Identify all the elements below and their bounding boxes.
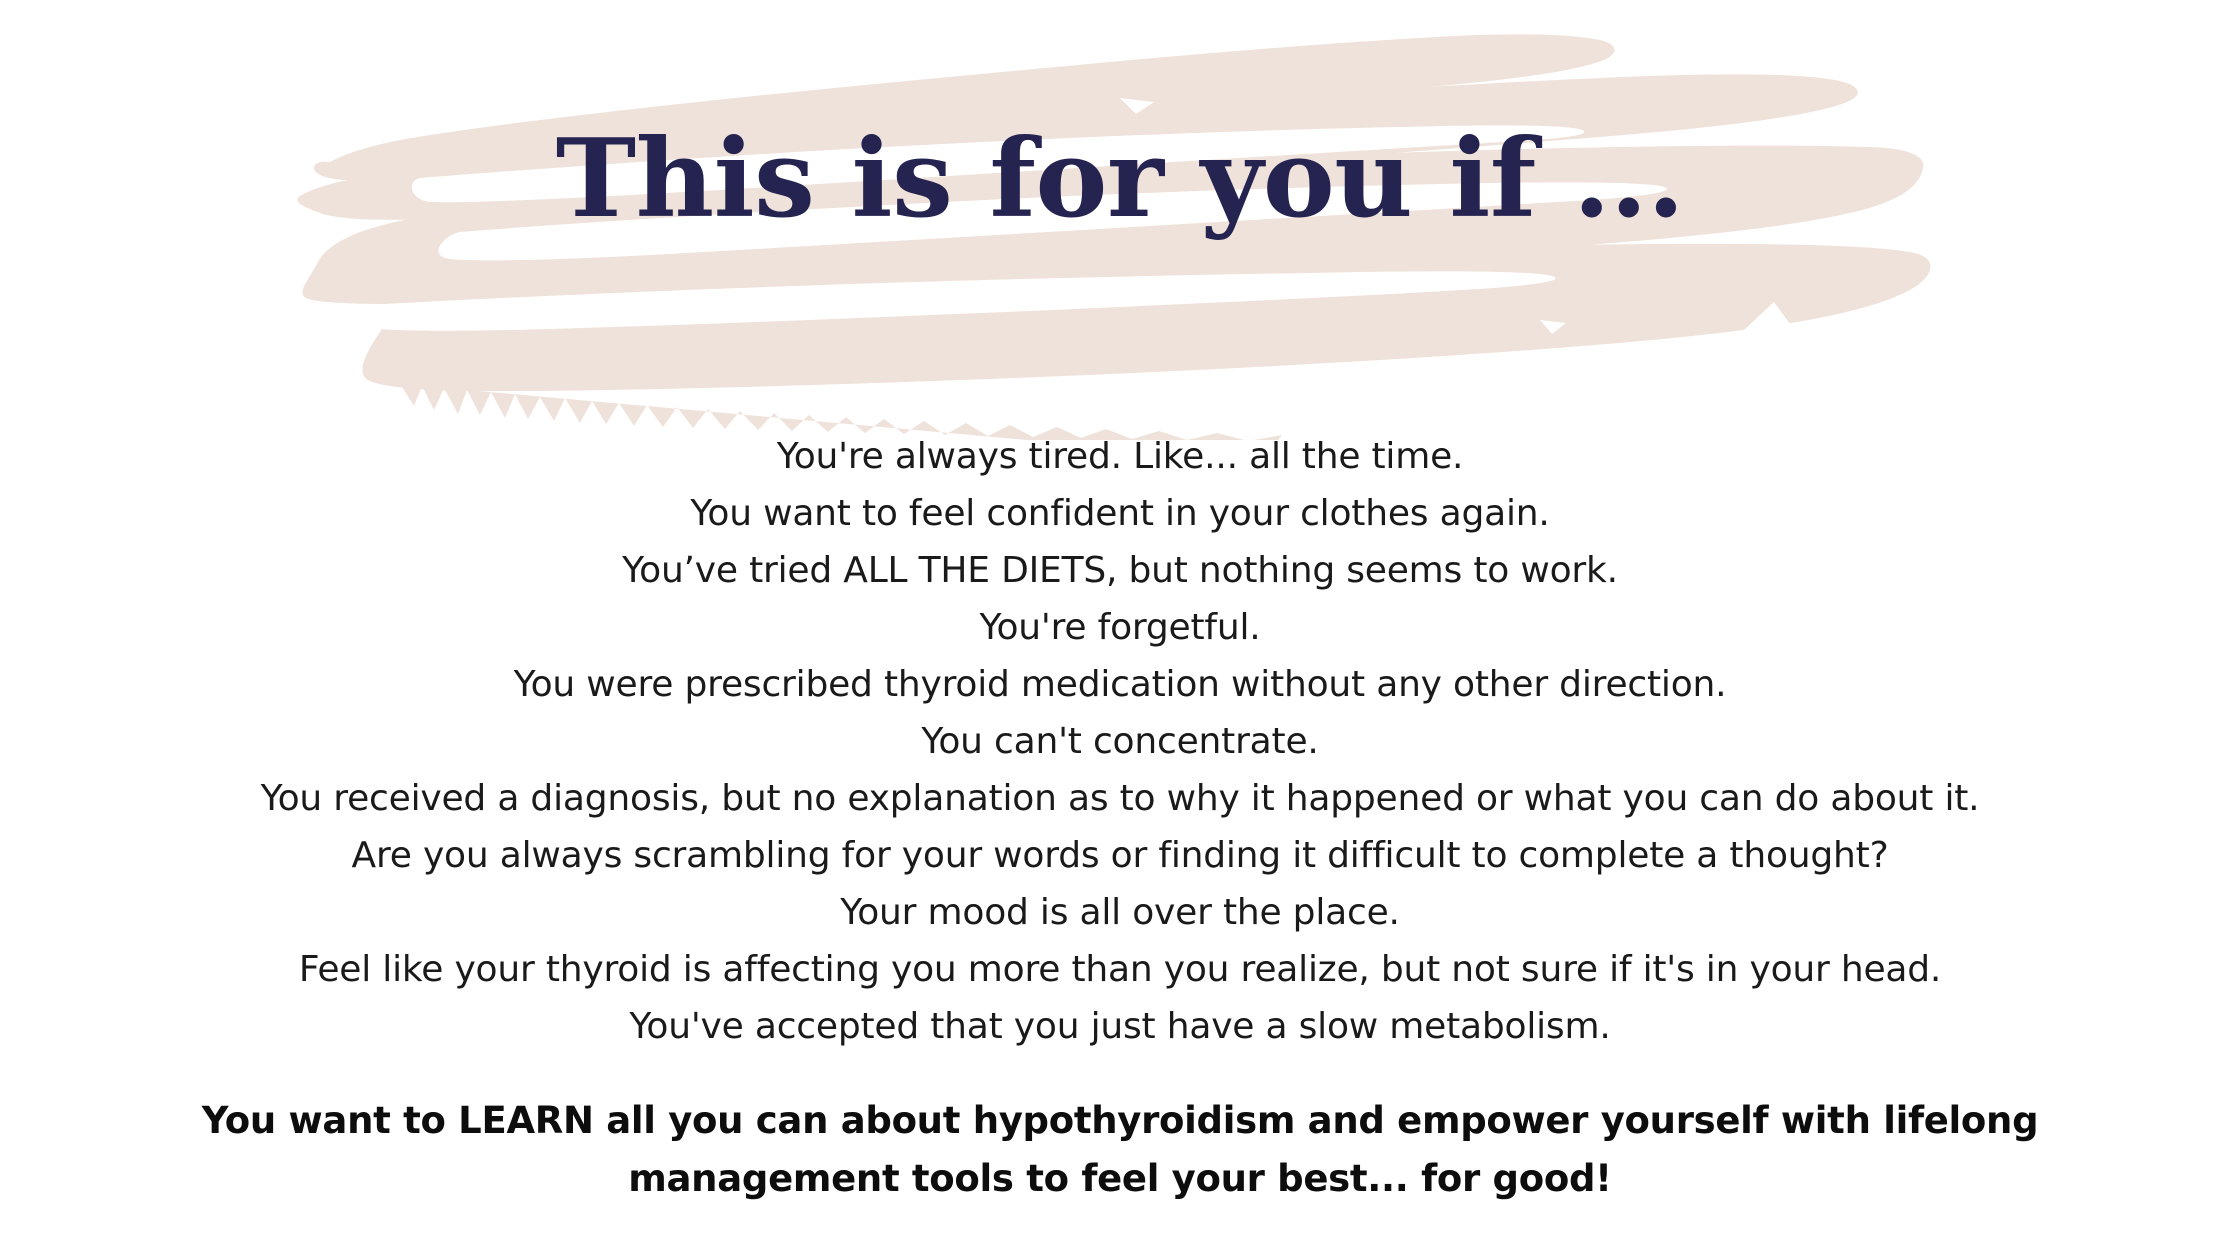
symptom-list: You're always tired. Like... all the tim… (0, 428, 2240, 1055)
symptom-line: You received a diagnosis, but no explana… (0, 770, 2240, 827)
symptom-line: You were prescribed thyroid medication w… (0, 656, 2240, 713)
symptom-line: Are you always scrambling for your words… (0, 827, 2240, 884)
symptom-line: You can't concentrate. (0, 713, 2240, 770)
symptom-line: You want to feel confident in your cloth… (0, 485, 2240, 542)
closing-line: management tools to feel your best... fo… (0, 1150, 2240, 1208)
closing-line: You want to LEARN all you can about hypo… (0, 1092, 2240, 1150)
symptom-line: You're always tired. Like... all the tim… (0, 428, 2240, 485)
slide-canvas: This is for you if ... You're always tir… (0, 0, 2240, 1260)
symptom-line: Your mood is all over the place. (0, 884, 2240, 941)
page-title: This is for you if ... (0, 123, 2240, 235)
symptom-line: You’ve tried ALL THE DIETS, but nothing … (0, 542, 2240, 599)
closing-statement: You want to LEARN all you can about hypo… (0, 1092, 2240, 1208)
symptom-line: You've accepted that you just have a slo… (0, 998, 2240, 1055)
symptom-line: You're forgetful. (0, 599, 2240, 656)
symptom-line: Feel like your thyroid is affecting you … (0, 941, 2240, 998)
